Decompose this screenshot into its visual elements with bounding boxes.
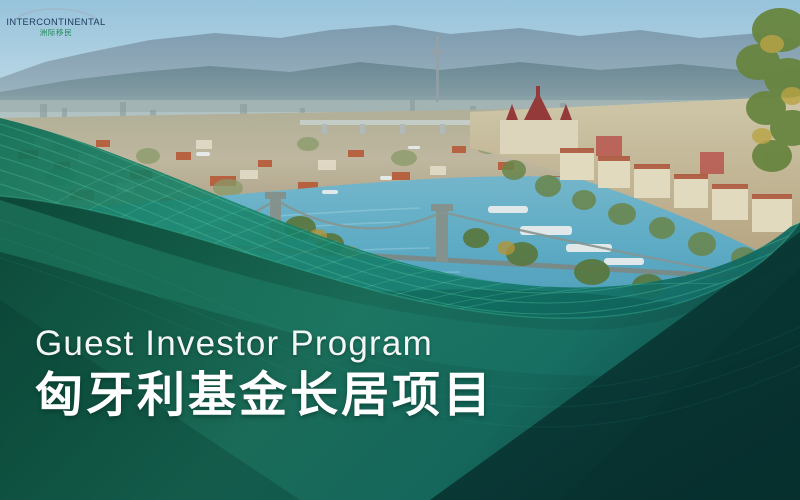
budapest-cityscape-photo (0, 0, 800, 500)
brand-logo[interactable]: INTERCONTINENTAL 洲际移民 (4, 3, 110, 37)
title-chinese: 匈牙利基金长居项目 (35, 366, 535, 424)
logo-wordmark: INTERCONTINENTAL (6, 16, 105, 27)
logo-chinese-text: 洲际移民 (40, 27, 73, 37)
hero-banner: INTERCONTINENTAL 洲际移民 Guest Investor Pro… (0, 0, 800, 500)
title-english: Guest Investor Program (35, 322, 535, 366)
title-block: Guest Investor Program 匈牙利基金长居项目 (35, 322, 535, 424)
